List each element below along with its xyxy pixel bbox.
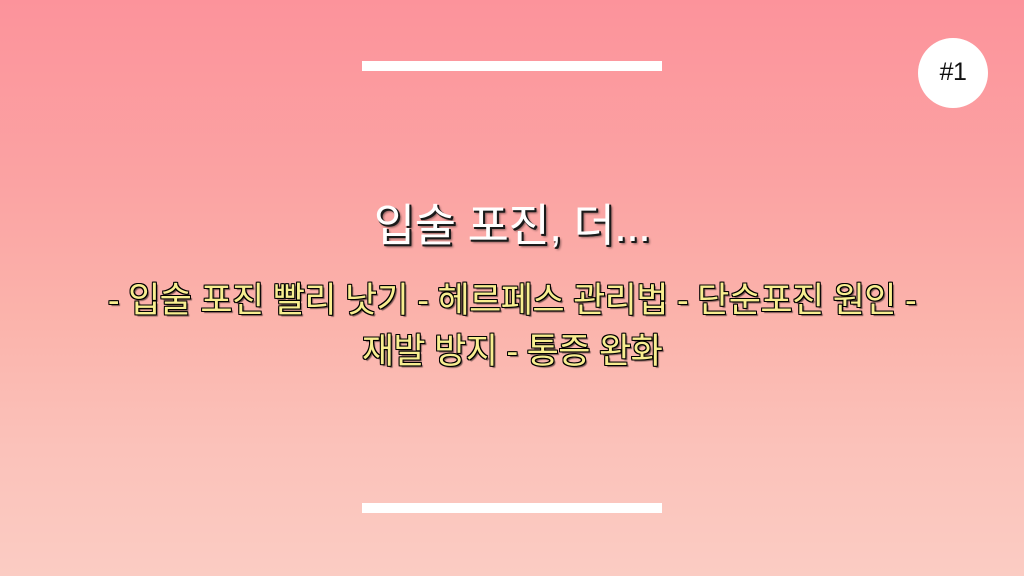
bottom-divider-rule — [362, 503, 662, 513]
slide-subtitle-line-1: - 입술 포진 빨리 낫기 - 헤르페스 관리법 - 단순포진 원인 - — [108, 276, 916, 327]
slide-canvas: #1 입술 포진, 더... - 입술 포진 빨리 낫기 - 헤르페스 관리법 … — [0, 0, 1024, 576]
slide-subtitle-line-2: 재발 방지 - 통증 완화 — [108, 327, 916, 378]
slide-subtitle: - 입술 포진 빨리 낫기 - 헤르페스 관리법 - 단순포진 원인 - 재발 … — [108, 276, 916, 378]
slide-title: 입술 포진, 더... — [374, 199, 651, 252]
slide-content: 입술 포진, 더... - 입술 포진 빨리 낫기 - 헤르페스 관리법 - 단… — [0, 0, 1024, 576]
